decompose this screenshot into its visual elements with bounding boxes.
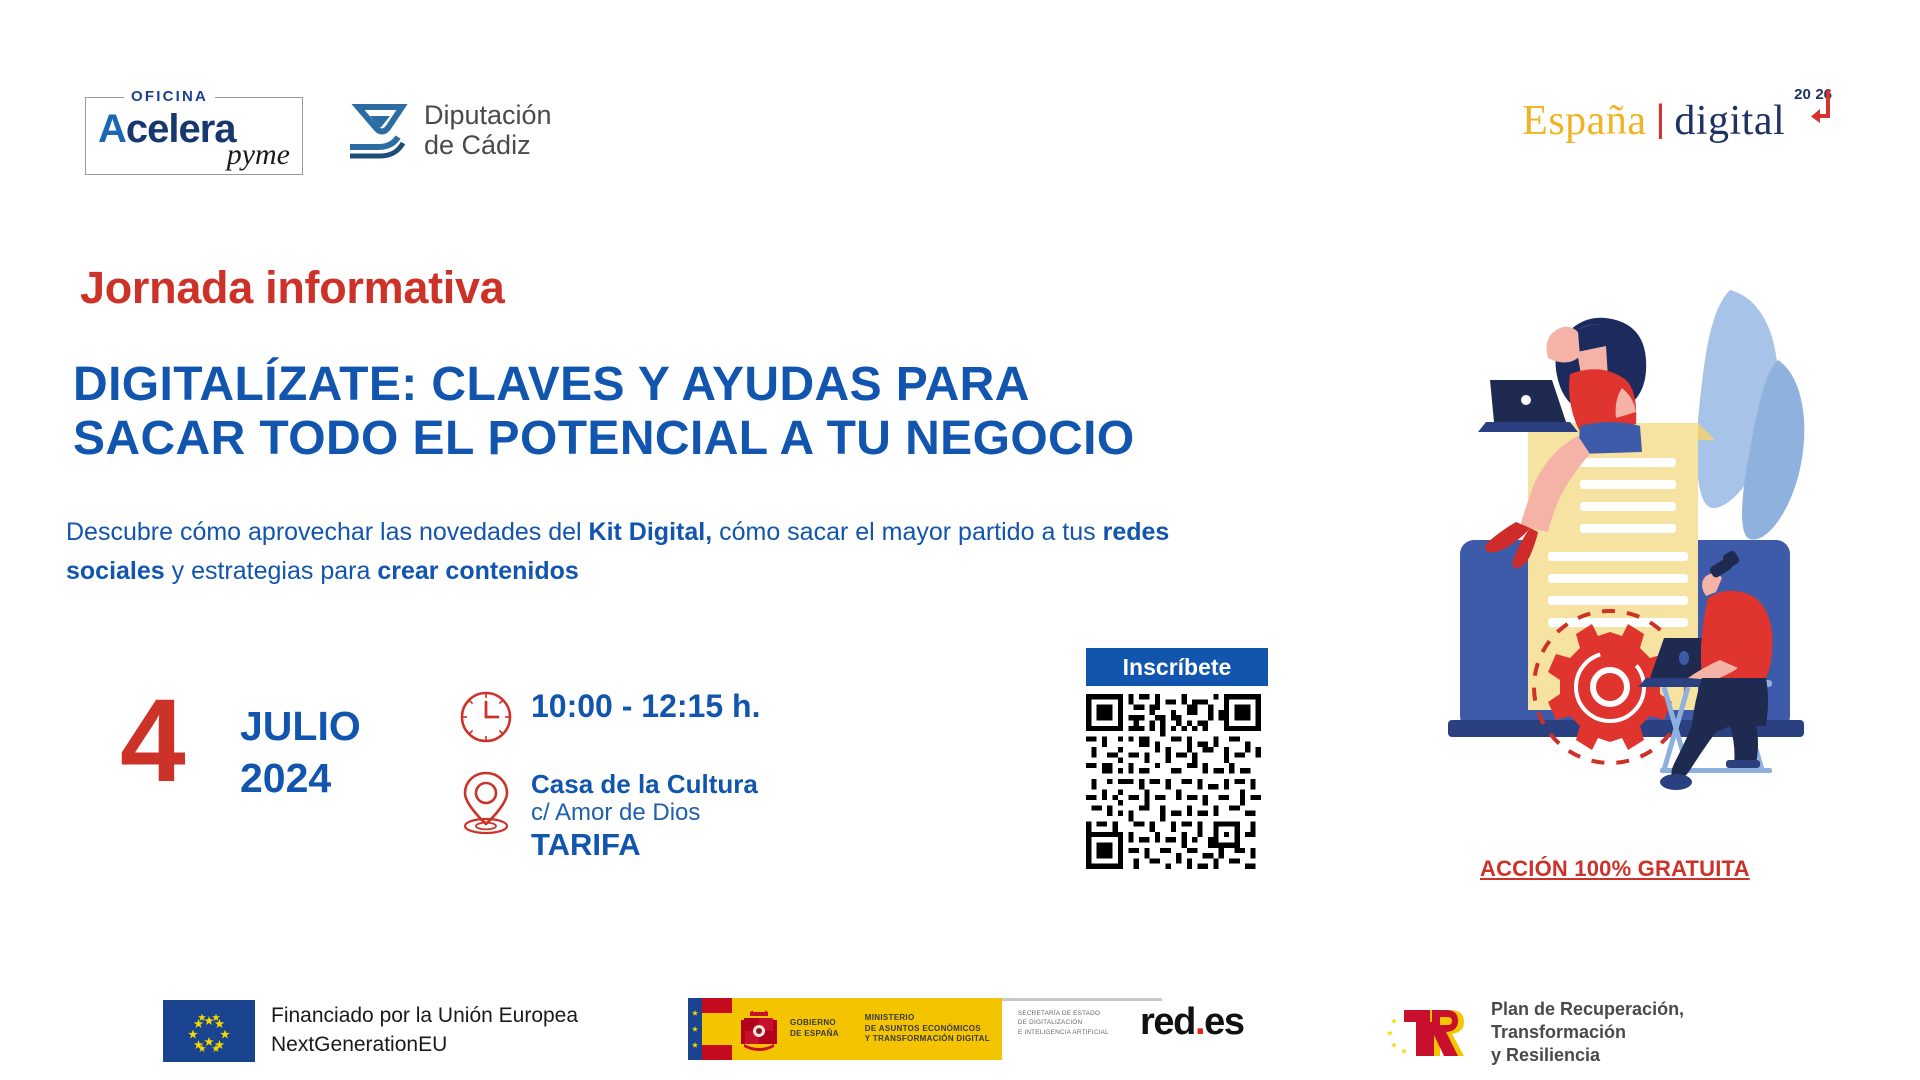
gobierno-text-block: GOBIERNO DE ESPAÑA [790, 1018, 839, 1040]
diputacion-text: Diputación de Cádiz [424, 100, 552, 160]
desc-bold-crear-contenidos: crear contenidos [377, 557, 578, 585]
acelera-pyme-label: pyme [227, 140, 290, 170]
title-line-2: SACAR TODO EL POTENCIAL A TU NEGOCIO [73, 412, 1353, 466]
ministerio-line1: MINISTERIO [865, 1013, 990, 1024]
event-day: 4 [120, 682, 186, 800]
inscribete-button[interactable]: Inscríbete [1086, 648, 1268, 686]
diputacion-line1: Diputación [424, 100, 552, 130]
title-line-1: DIGITALÍZATE: CLAVES Y AYUDAS PARA [73, 358, 1353, 412]
poster: OFICINA Acelera pyme Diputación de Cádiz… [0, 0, 1920, 1080]
eu-text-line1: Financiado por la Unión Europea [271, 1002, 578, 1031]
espana-digital-espana: España [1522, 100, 1646, 142]
venue-name: Casa de la Cultura [531, 770, 758, 799]
espana-digital-logo: España | digital 20 26 [1522, 100, 1832, 142]
ministerio-line2: DE ASUNTOS ECONÓMICOS [865, 1024, 990, 1035]
page-title: DIGITALÍZATE: CLAVES Y AYUDAS PARA SACAR… [73, 358, 1353, 466]
event-month: JULIO [240, 700, 361, 752]
event-year: 2024 [240, 752, 361, 804]
plan-recuperacion-logo: Plan de Recuperación, Transformación y R… [1382, 998, 1684, 1067]
prtr-line3: y Resiliencia [1491, 1044, 1684, 1067]
kicker-jornada-informativa: Jornada informativa [80, 262, 504, 314]
red-arrow-icon [1808, 88, 1834, 128]
desc-part-2: cómo sacar el mayor partido a tus [712, 518, 1102, 546]
gobierno-yellow-panel: GOBIERNO DE ESPAÑA MINISTERIO DE ASUNTOS… [688, 998, 1002, 1060]
ministerio-text-block: MINISTERIO DE ASUNTOS ECONÓMICOS Y TRANS… [865, 1013, 990, 1045]
venue-city: TARIFA [531, 827, 758, 863]
prtr-line2: Transformación [1491, 1021, 1684, 1044]
diputacion-mark-icon [348, 101, 410, 159]
spain-coat-of-arms-icon [736, 1002, 782, 1056]
event-time-label: 10:00 - 12:15 h. [531, 690, 760, 722]
redes-wordmark: red.es [1140, 1003, 1244, 1041]
desc-part-3: y estrategias para [165, 557, 378, 585]
event-venue-text-wrap: Casa de la Cultura c/ Amor de Dios TARIF… [517, 766, 758, 863]
gobierno-line2: DE ESPAÑA [790, 1029, 839, 1040]
acelera-wordmark: Acelera [98, 109, 236, 149]
location-pin-icon [455, 766, 517, 838]
acelera-initial: A [98, 107, 126, 151]
espana-digital-digital: digital [1674, 100, 1785, 142]
event-month-year: JULIO 2024 [240, 700, 361, 805]
espana-digital-2026-mark: 20 26 [1794, 86, 1832, 104]
acelera-pyme-logo: OFICINA Acelera pyme [85, 97, 303, 175]
prtr-line1: Plan de Recuperación, [1491, 998, 1684, 1021]
redes-part1: red [1140, 1001, 1195, 1043]
redes-part2: es [1204, 1001, 1243, 1043]
acelera-rest: celera [126, 107, 236, 151]
event-time-row: 10:00 - 12:15 h. [455, 686, 760, 748]
secretaria-panel: SECRETARÍA DE ESTADO DE DIGITALIZACIÓN E… [1002, 998, 1162, 1060]
redes-logo: red.es [1140, 1003, 1244, 1041]
free-action-badge: ACCIÓN 100% GRATUITA [1480, 856, 1750, 882]
ministerio-line3: Y TRANSFORMACIÓN DIGITAL [865, 1034, 990, 1045]
espana-digital-separator: | [1655, 100, 1665, 140]
registration-block: Inscríbete [1086, 648, 1268, 869]
diputacion-cadiz-logo: Diputación de Cádiz [348, 100, 552, 160]
event-details: 10:00 - 12:15 h. Casa de la Cultura c/ A… [455, 686, 760, 863]
eu-funding-text: Financiado por la Unión Europea NextGene… [271, 1002, 578, 1060]
venue-address: c/ Amor de Dios [531, 799, 758, 827]
redes-dot: . [1195, 1001, 1204, 1043]
eu-text-line2: NextGenerationEU [271, 1031, 578, 1060]
event-venue-row: Casa de la Cultura c/ Amor de Dios TARIF… [455, 766, 760, 863]
gobierno-espana-logo: GOBIERNO DE ESPAÑA MINISTERIO DE ASUNTOS… [688, 998, 1162, 1060]
event-time-text-wrap: 10:00 - 12:15 h. [517, 686, 760, 722]
diputacion-line2: de Cádiz [424, 130, 552, 160]
desc-part-1: Descubre cómo aprovechar las novedades d… [66, 518, 589, 546]
clock-icon [455, 686, 517, 748]
qr-code[interactable] [1086, 694, 1261, 869]
prtr-text: Plan de Recuperación, Transformación y R… [1491, 998, 1684, 1067]
prtr-mark-icon [1382, 1002, 1478, 1064]
gobierno-line1: GOBIERNO [790, 1018, 839, 1029]
man-shoe-icon [1660, 774, 1692, 790]
header-logos: OFICINA Acelera pyme Diputación de Cádiz… [0, 0, 1920, 200]
spain-eu-flag-strip-icon [688, 998, 732, 1060]
desc-bold-kit-digital: Kit Digital, [589, 518, 713, 546]
hero-illustration [1430, 240, 1820, 880]
eu-flag-icon [163, 1000, 255, 1062]
event-time-value: 10:00 - 12:15 h [531, 688, 752, 724]
acelera-oficina-label: OFICINA [124, 88, 215, 105]
event-description: Descubre cómo aprovechar las novedades d… [66, 513, 1196, 591]
event-time-period: . [752, 688, 761, 724]
eu-funding-logo: Financiado por la Unión Europea NextGene… [163, 1000, 578, 1062]
